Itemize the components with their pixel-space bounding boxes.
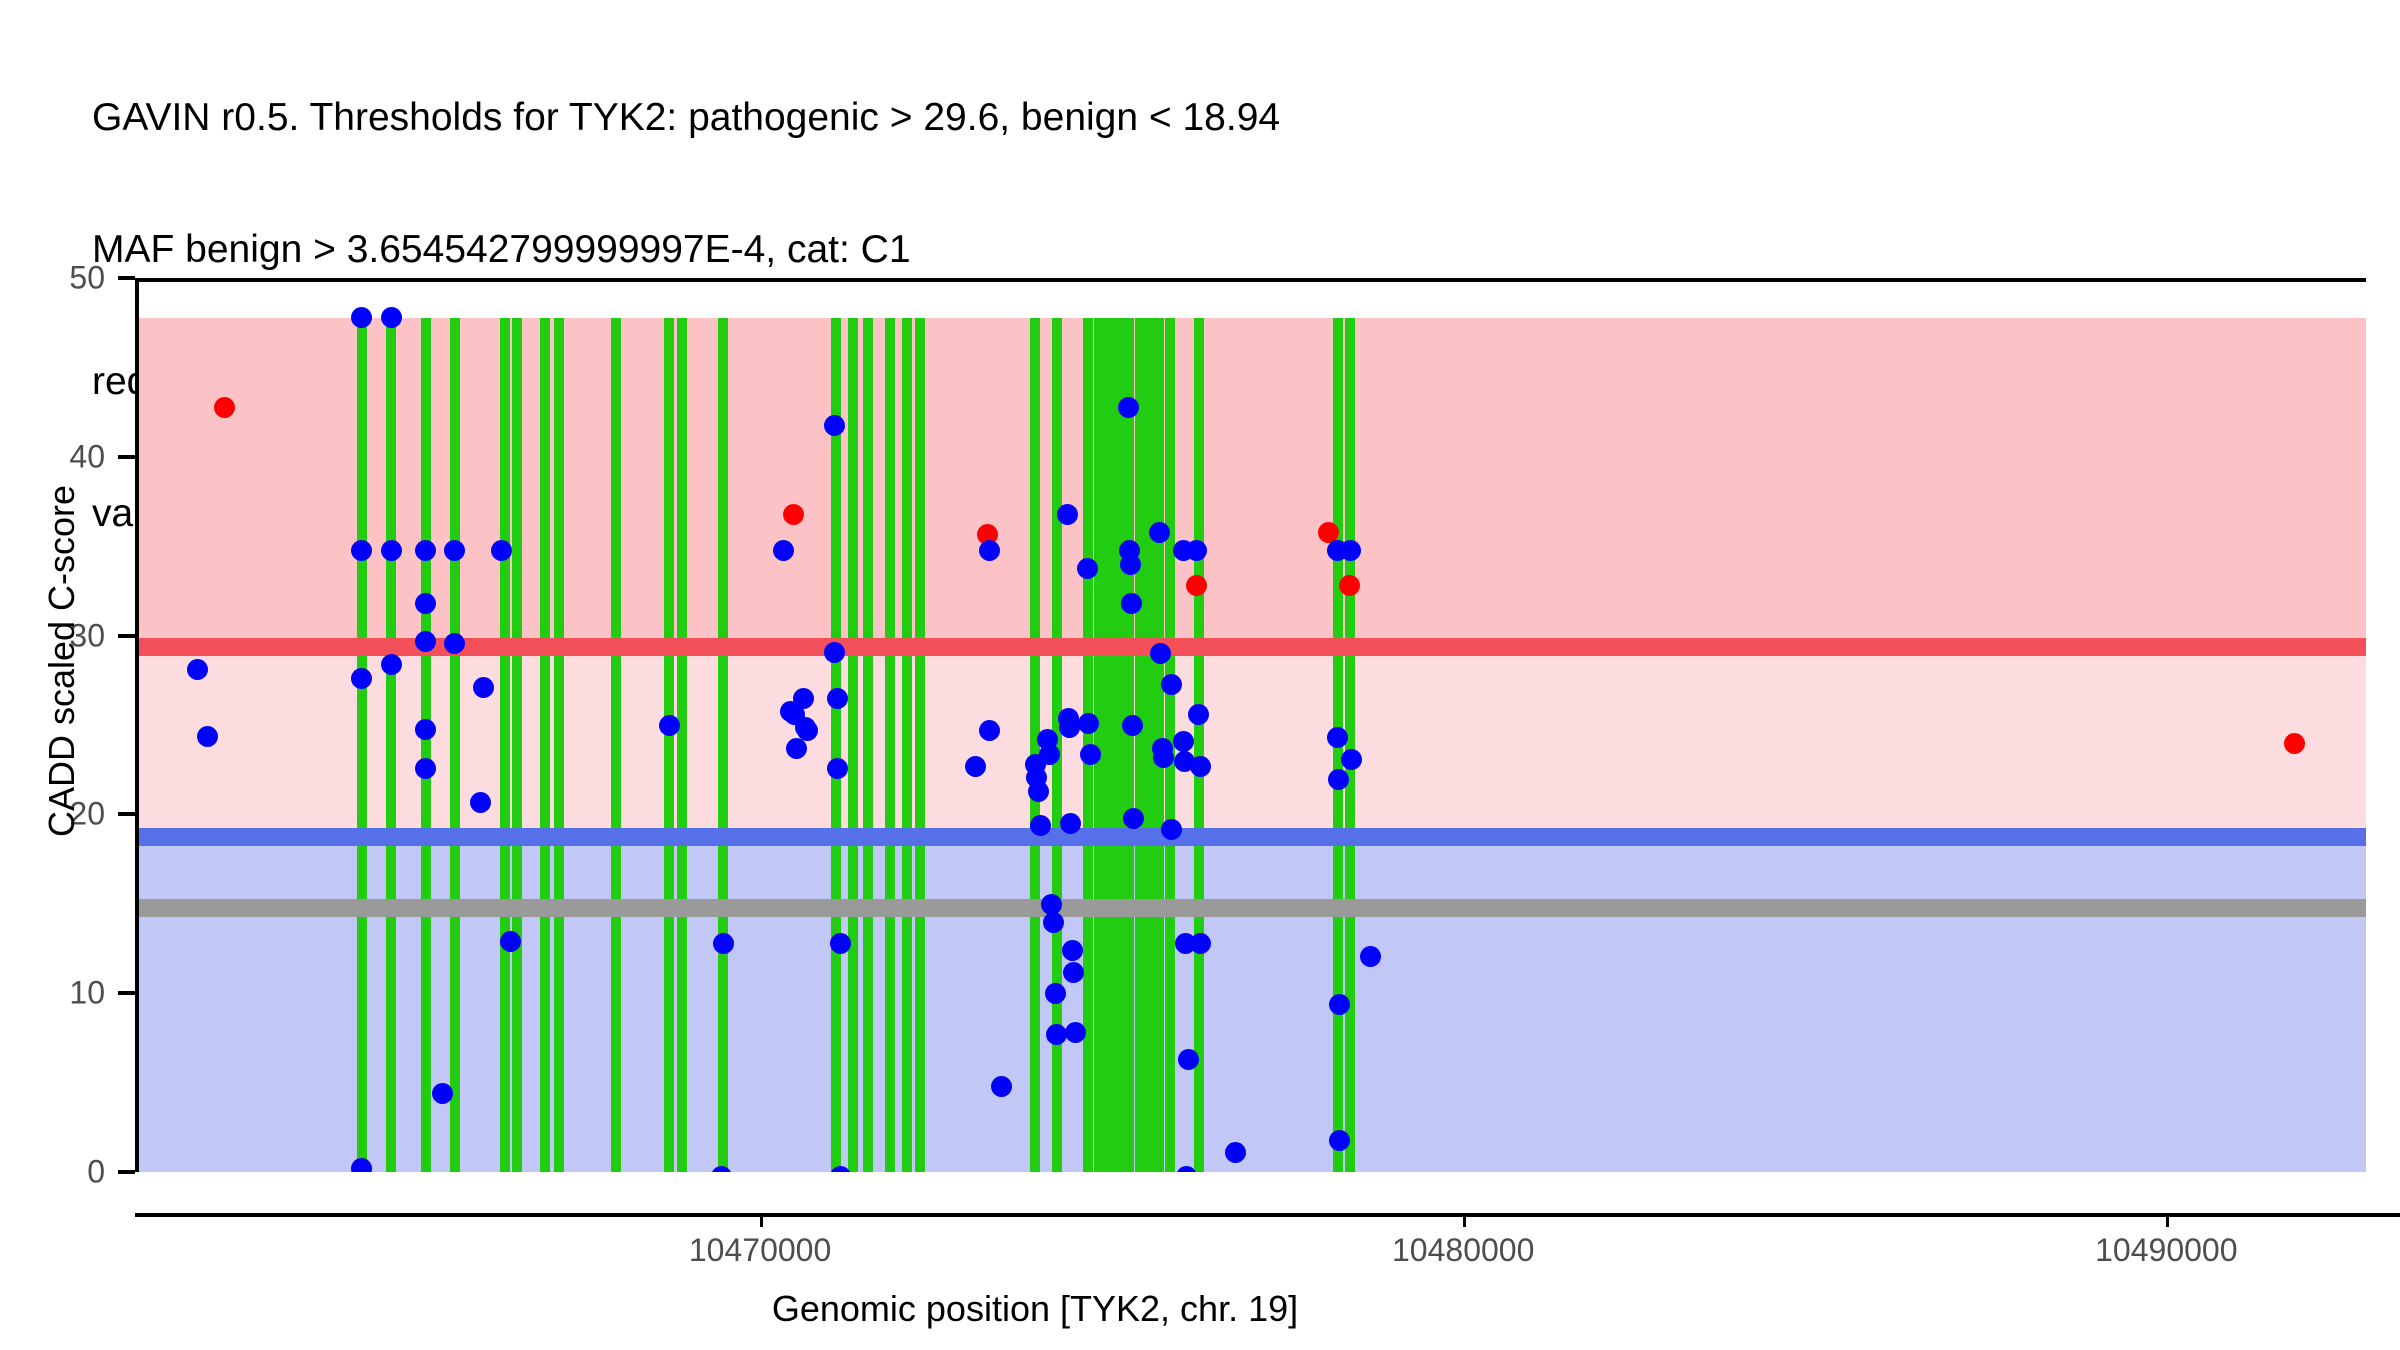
- gnomad-variant-point: [830, 933, 851, 954]
- gnomad-variant-point: [824, 642, 845, 663]
- clinvar-pathogenic-point: [2284, 733, 2305, 754]
- refseq-exon-bar: [554, 318, 564, 1172]
- gnomad-variant-point: [1161, 819, 1182, 840]
- gnomad-variant-point: [793, 688, 814, 709]
- gnomad-variant-point: [444, 633, 465, 654]
- gnomad-variant-point: [491, 540, 512, 561]
- y-tick-mark: [118, 991, 135, 995]
- gnomad-variant-point: [415, 540, 436, 561]
- gnomad-variant-point: [824, 415, 845, 436]
- gnomad-variant-point: [351, 1158, 372, 1172]
- x-tick-label: 10470000: [689, 1232, 831, 1269]
- refseq-exon-bar: [512, 318, 522, 1172]
- gnomad-variant-point: [1059, 717, 1080, 738]
- refseq-exon-bar: [386, 318, 396, 1172]
- plot-clip: [139, 282, 2366, 1172]
- refseq-exon-bar: [664, 318, 674, 1172]
- refseq-exon-bar: [1114, 318, 1124, 1172]
- gnomad-variant-point: [1225, 1142, 1246, 1163]
- x-tick-mark: [2166, 1213, 2169, 1227]
- gnomad-variant-point: [1360, 946, 1381, 967]
- gnomad-variant-point: [965, 756, 986, 777]
- gnomad-variant-point: [1190, 756, 1211, 777]
- x-axis-line: [135, 1213, 2400, 1217]
- refseq-exon-bar: [500, 318, 510, 1172]
- gnomad-variant-point: [1077, 558, 1098, 579]
- gnomad-variant-point: [1186, 540, 1207, 561]
- refseq-exon-bar: [831, 318, 841, 1172]
- gnomad-variant-point: [1045, 983, 1066, 1004]
- gnomad-variant-point: [1178, 1049, 1199, 1070]
- gnomad-variant-point: [1341, 749, 1362, 770]
- y-tick-mark: [118, 634, 135, 638]
- refseq-exon-bar: [718, 318, 728, 1172]
- gnomad-variant-point: [1062, 940, 1083, 961]
- refseq-exon-bar: [611, 318, 621, 1172]
- gnomad-variant-point: [786, 738, 807, 759]
- gnomad-variant-point: [1030, 815, 1051, 836]
- benign-threshold-line: [139, 828, 2366, 846]
- gnomad-variant-point: [1028, 781, 1049, 802]
- x-axis-title: Genomic position [TYK2, chr. 19]: [135, 1288, 1935, 1330]
- refseq-exon-bar: [885, 318, 895, 1172]
- refseq-exon-bar: [357, 318, 367, 1172]
- refseq-exon-bar: [421, 318, 431, 1172]
- refseq-exon-bar: [1104, 318, 1114, 1172]
- gnomad-variant-point: [1122, 715, 1143, 736]
- gnomad-variant-point: [500, 931, 521, 952]
- gnomad-variant-point: [979, 540, 1000, 561]
- gnomad-variant-point: [1039, 744, 1060, 765]
- x-tick-label: 10480000: [1392, 1232, 1534, 1269]
- refseq-exon-bar: [1345, 318, 1355, 1172]
- y-axis-title: CADD scaled C-score: [41, 281, 83, 1041]
- gnomad-variant-point: [444, 540, 465, 561]
- gnomad-variant-point: [197, 726, 218, 747]
- plot-area: [135, 278, 2366, 1172]
- gnomad-variant-point: [1149, 522, 1170, 543]
- y-tick-mark: [118, 276, 135, 280]
- gnomad-variant-point: [713, 933, 734, 954]
- refseq-exon-bar: [677, 318, 687, 1172]
- refseq-exon-bar: [1124, 318, 1134, 1172]
- gnomad-variant-point: [415, 719, 436, 740]
- gnomad-variant-point: [351, 540, 372, 561]
- clinvar-pathogenic-point: [214, 397, 235, 418]
- gnomad-variant-point: [1043, 912, 1064, 933]
- gnomad-variant-point: [1080, 744, 1101, 765]
- gnomad-variant-point: [470, 792, 491, 813]
- pathogenic-band: [139, 318, 2366, 647]
- fallback-threshold-line: [139, 899, 2366, 917]
- gnomad-variant-point: [381, 307, 402, 328]
- refseq-exon-bar: [450, 318, 460, 1172]
- y-tick-mark: [118, 812, 135, 816]
- refseq-exon-bar: [902, 318, 912, 1172]
- gnomad-variant-point: [1161, 674, 1182, 695]
- x-tick-mark: [760, 1213, 763, 1227]
- gnomad-variant-point: [659, 715, 680, 736]
- y-tick-mark: [118, 1170, 135, 1174]
- gnomad-variant-point: [1153, 747, 1174, 768]
- gnomad-variant-point: [1329, 994, 1350, 1015]
- pathogenic-threshold-line: [139, 638, 2366, 656]
- y-tick-label: 0: [0, 1154, 105, 1191]
- gnomad-variant-point: [1328, 769, 1349, 790]
- x-tick-label: 10490000: [2095, 1232, 2237, 1269]
- refseq-exon-bar: [848, 318, 858, 1172]
- refseq-exon-bar: [1194, 318, 1204, 1172]
- clinvar-pathogenic-point: [783, 504, 804, 525]
- gnomad-variant-point: [1120, 554, 1141, 575]
- x-tick-mark: [1463, 1213, 1466, 1227]
- title-line-2: MAF benign > 3.654542799999997E-4, cat: …: [92, 228, 2382, 272]
- gnomad-variant-point: [381, 540, 402, 561]
- gnomad-variant-point: [773, 540, 794, 561]
- title-line-1: GAVIN r0.5. Thresholds for TYK2: pathoge…: [92, 96, 2382, 140]
- refseq-exon-bar: [540, 318, 550, 1172]
- refseq-exon-bar: [915, 318, 925, 1172]
- benign-band: [139, 837, 2366, 1172]
- gnomad-variant-point: [381, 654, 402, 675]
- y-tick-mark: [118, 455, 135, 459]
- gnomad-variant-point: [1340, 540, 1361, 561]
- gnomad-variant-point: [1063, 962, 1084, 983]
- refseq-exon-bar: [863, 318, 873, 1172]
